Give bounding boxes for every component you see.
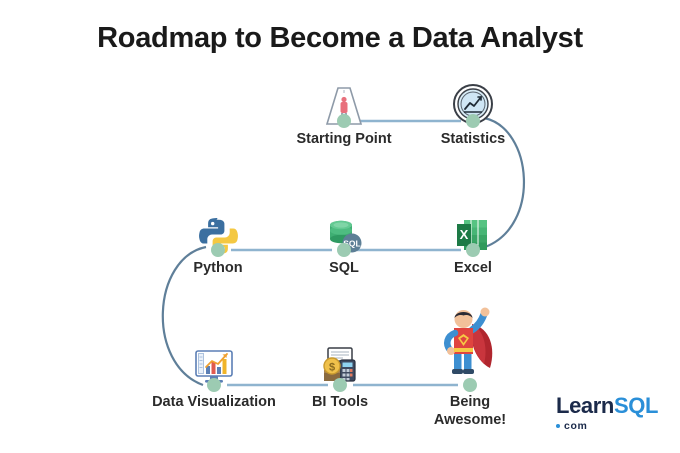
superhero-icon	[432, 306, 508, 378]
infographic-canvas: Roadmap to Become a Data Analyst	[0, 0, 680, 453]
roadmap-dot-python	[211, 243, 225, 257]
roadmap-label-excel: Excel	[393, 260, 553, 278]
logo-wordmark: LearnSQL	[556, 395, 658, 417]
roadmap-dot-statistics	[466, 114, 480, 128]
page-title: Roadmap to Become a Data Analyst	[0, 22, 680, 55]
roadmap-label-being-awesome: Being Awesome!	[390, 394, 550, 429]
logo-learn-text: Learn	[556, 393, 614, 418]
roadmap-dot-being-awesome	[463, 378, 477, 392]
roadmap-label-statistics: Statistics	[393, 131, 553, 149]
roadmap-dot-sql	[337, 243, 351, 257]
roadmap-dot-starting-point	[337, 114, 351, 128]
logo-sql-text: SQL	[614, 393, 658, 418]
logo-domain-text: com	[564, 421, 587, 432]
roadmap-dot-bi-tools	[333, 378, 347, 392]
svg-text:$: $	[329, 362, 335, 374]
svg-text:X: X	[460, 227, 469, 242]
learnsql-logo[interactable]: LearnSQL com	[556, 395, 658, 432]
logo-bullet-icon	[556, 424, 560, 428]
roadmap-dot-data-visualization	[207, 378, 221, 392]
roadmap-dot-excel	[466, 243, 480, 257]
logo-domain: com	[556, 421, 658, 432]
